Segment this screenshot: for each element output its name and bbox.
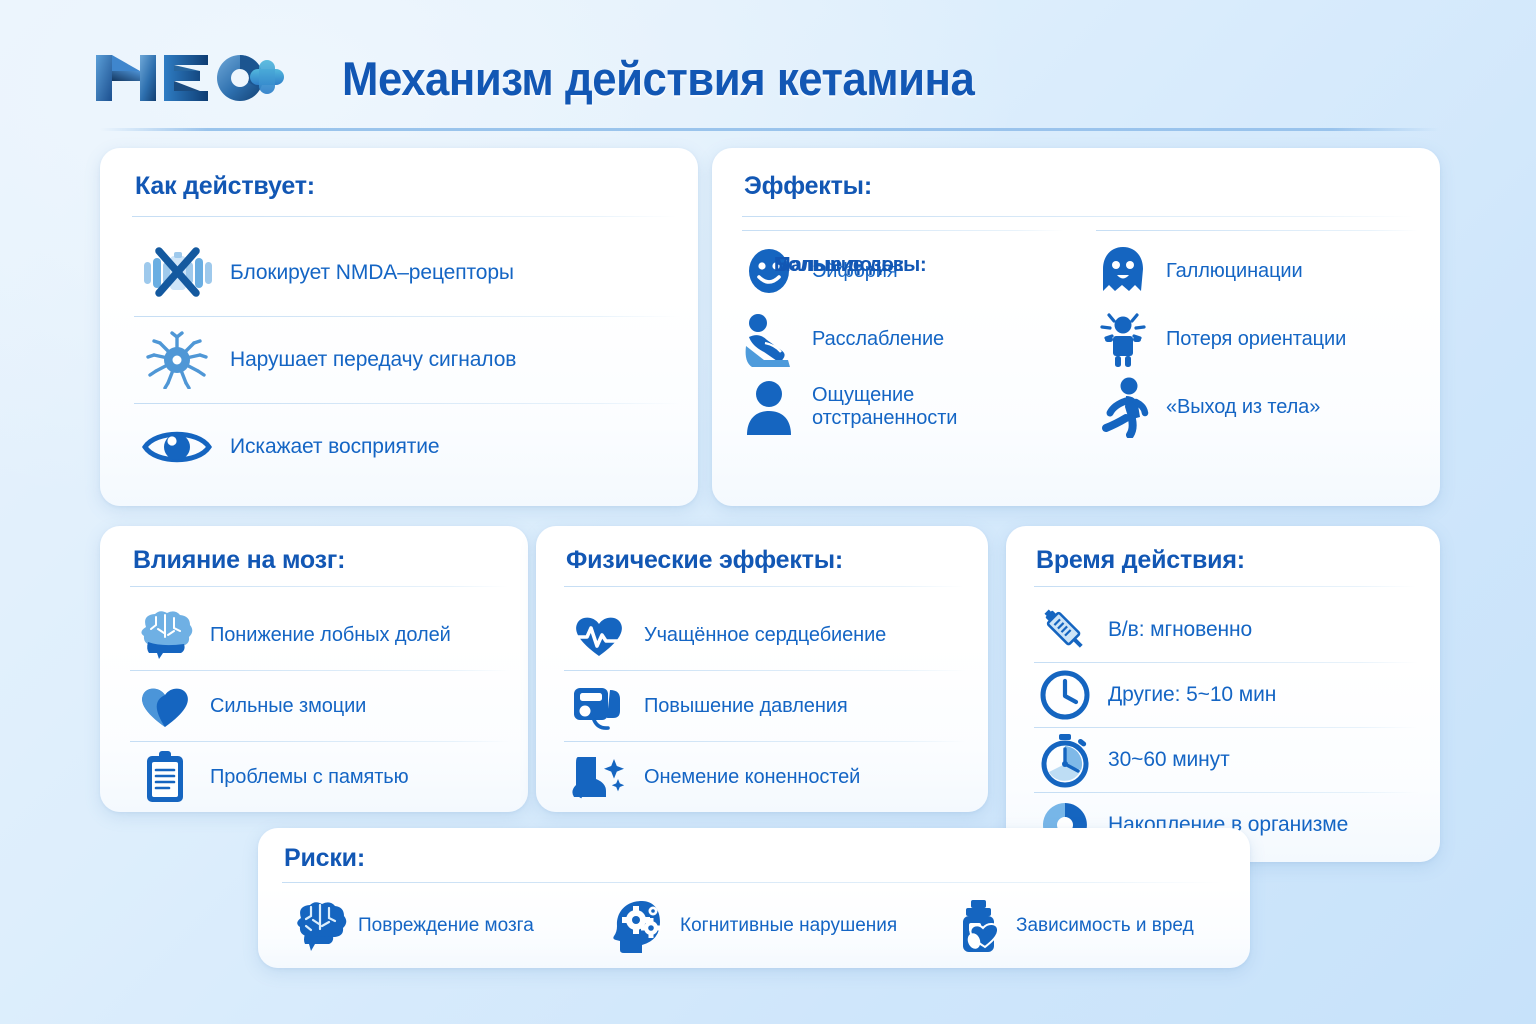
syringe-icon [1038,603,1092,657]
list-item-label: Ощущение отстраненности [812,384,957,430]
card-title-effects: Эффекты: [744,172,872,201]
list-item-label: В/в: мгновенно [1108,618,1252,642]
floating-person-icon [1096,376,1150,438]
card-risks: Риски: Повреждение мозга [258,828,1250,968]
dizzy-person-icon [1096,310,1150,368]
divider [132,216,677,217]
card-title-brain: Влияние на мозг: [133,546,345,575]
list-item[interactable]: «Выход из тела» [1096,373,1418,441]
list-item-label: Повреждение мозга [358,915,534,937]
blocked-receptor-icon [140,246,214,300]
list-item-label: Когнитивные нарушения [680,915,897,937]
list-item[interactable]: Ощущение отстраненности [742,373,1064,441]
list-item[interactable]: Сильные змоции [130,671,510,741]
list-item[interactable]: Повышение давления [564,671,966,741]
divider [1096,230,1418,231]
eye-icon [140,423,214,471]
list-item[interactable]: В/в: мгновенно [1034,598,1418,662]
list-item[interactable]: Блокирует NMDA–рецепторы [132,230,680,316]
heart-pulse-icon [570,611,628,659]
stopwatch-icon [1038,732,1092,788]
list-item[interactable]: Галлюцинации [1096,237,1418,305]
list-item[interactable]: Онемение коненностей [564,742,966,812]
list-item-label: Расслабление [812,328,944,351]
card-effects: Эффекты: Малые дозы: Эйфория [712,148,1440,506]
head-gears-icon [612,898,670,954]
list-item[interactable]: Понижение лобных долей [130,600,510,670]
card-how-it-works: Как действует: Блокирует NMDA–рецепторы [100,148,698,506]
list-item-label: Зависимость и вред [1016,915,1194,937]
list-item[interactable]: Искажает восприятие [132,404,680,490]
page-title: Механизм действия кетамина [342,51,974,106]
list-item-label: Искажает восприятие [230,435,439,459]
person-silhouette-icon [742,378,796,436]
list-item[interactable]: 30~60 минут [1034,728,1418,792]
list-item[interactable]: Потеря ориентации [1096,305,1418,373]
pill-bottle-icon [952,898,1006,954]
numb-foot-icon [570,751,628,803]
blood-pressure-monitor-icon [570,680,628,732]
list-item-label: Нарушает передачу сигналов [230,348,516,372]
clipboard-icon [136,748,194,806]
card-title-risks: Риски: [284,844,365,873]
list-item[interactable]: Когнитивные нарушения [612,898,952,954]
card-brain-impact: Влияние на мозг: Понижение лобных долей … [100,526,528,812]
list-item-label: Сильные змоции [210,695,366,718]
list-item-label: «Выход из тела» [1166,396,1320,419]
card-title-how: Как действует: [135,172,315,201]
list-item[interactable]: Расслабление [742,305,1064,373]
neuron-icon [140,331,214,389]
list-item-label: Другие: 5~10 мин [1108,683,1276,707]
divider [130,586,508,587]
list-item[interactable]: Проблемы с памятью [130,742,510,812]
page-header: Механизм действия кетамина [90,28,1450,128]
brand-logo-icon [90,47,286,109]
list-item[interactable]: Зависимость и вред [952,898,1212,954]
list-item[interactable]: Нарушает передачу сигналов [132,317,680,403]
damaged-brain-icon [290,900,348,952]
clock-icon [1038,668,1092,722]
card-title-time: Время действия: [1036,546,1245,575]
list-item-label: Учащённое сердцебиение [644,624,886,647]
header-divider [100,128,1440,131]
card-physical-effects: Физические эффекты: Учащённое сердцебиен… [536,526,988,812]
list-item-label: Галлюцинации [1166,260,1303,283]
reclining-person-icon [742,310,796,368]
heart-icon [136,682,194,730]
list-item-label: Проблемы с памятью [210,766,409,789]
divider [282,882,1222,883]
ghost-icon [1096,243,1150,299]
divider [742,230,1064,231]
divider [564,586,964,587]
list-item-label: Повышение давления [644,695,848,718]
column-high-doses: Большие дозы: Галлюцинации [1096,230,1418,441]
list-item[interactable]: Другие: 5~10 мин [1034,663,1418,727]
card-title-physical: Физические эффекты: [566,546,843,575]
list-item-label: Понижение лобных долей [210,624,451,647]
brain-icon [136,611,194,659]
list-item-label: 30~60 минут [1108,748,1230,772]
card-duration: Время действия: В/в: мгновенно [1006,526,1440,862]
list-item[interactable]: Учащённое сердцебиение [564,600,966,670]
list-item-label: Потеря ориентации [1166,328,1346,351]
divider [742,216,1414,217]
divider [1034,586,1416,587]
list-item-label: Онемение коненностей [644,766,860,789]
list-item-label: Блокирует NMDA–рецепторы [230,261,514,285]
list-item[interactable]: Повреждение мозга [282,900,612,952]
column-title: Большие дозы: [774,254,926,277]
